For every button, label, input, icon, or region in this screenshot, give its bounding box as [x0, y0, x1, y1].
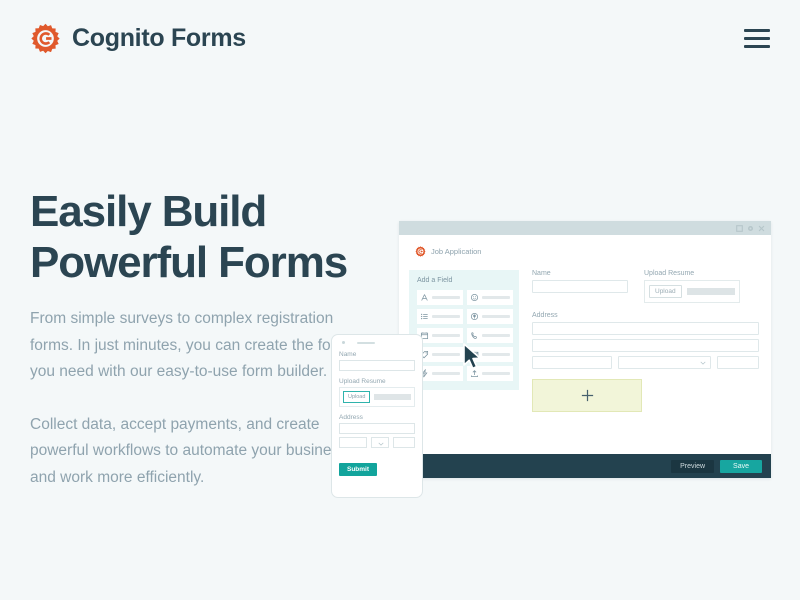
hero-paragraph-2: Collect data, accept payments, and creat… — [30, 412, 370, 492]
page-title: Easily Build Powerful Forms — [30, 186, 370, 288]
mobile-upload-group: Upload Resume Upload — [339, 378, 415, 407]
landing-page: Cognito Forms Easily Build Powerful Form… — [0, 0, 800, 600]
phone-camera-dot — [342, 341, 345, 344]
chip-placeholder — [482, 372, 510, 375]
field-type-choice[interactable] — [467, 290, 513, 305]
mobile-upload-label: Upload Resume — [339, 378, 415, 385]
address-city-state-zip-row — [532, 356, 759, 369]
mobile-name-input[interactable] — [339, 360, 415, 371]
chip-placeholder — [432, 334, 460, 337]
chip-placeholder — [482, 353, 510, 356]
chip-placeholder — [432, 372, 460, 375]
add-a-field-title: Add a Field — [417, 277, 513, 284]
chip-placeholder — [482, 296, 510, 299]
field-type-text[interactable] — [417, 290, 463, 305]
cognito-gear-icon — [30, 23, 61, 54]
mobile-state-select[interactable] — [371, 437, 389, 448]
gear-icon[interactable] — [747, 225, 754, 232]
form-row-top: Name Upload Resume Upload — [532, 270, 759, 303]
name-input[interactable] — [532, 280, 628, 293]
chip-placeholder — [482, 334, 510, 337]
zip-input[interactable] — [717, 356, 759, 369]
add-field-dropzone[interactable] — [532, 379, 642, 412]
mobile-city-state-zip-row — [339, 437, 415, 448]
minimize-icon[interactable] — [736, 225, 743, 232]
mobile-form-mockup: Name Upload Resume Upload Address — [331, 334, 423, 498]
upload-field-group: Upload Resume Upload — [644, 270, 740, 303]
headline-line-1: Easily Build — [30, 187, 266, 236]
mobile-zip-input[interactable] — [393, 437, 415, 448]
hamburger-menu-icon[interactable] — [744, 29, 770, 48]
mobile-city-input[interactable] — [339, 437, 367, 448]
plus-icon — [580, 388, 595, 403]
hero-copy: Easily Build Powerful Forms From simple … — [30, 186, 370, 491]
site-header: Cognito Forms — [0, 0, 800, 76]
mock-window-body: Job Application Add a Field — [399, 235, 771, 454]
list-field-icon — [420, 312, 429, 321]
mouse-pointer-icon — [462, 343, 484, 373]
address-line-1-input[interactable] — [532, 322, 759, 335]
address-field-group: Address — [532, 312, 759, 369]
upload-control: Upload — [644, 280, 740, 303]
mobile-name-label: Name — [339, 351, 415, 358]
close-icon[interactable] — [758, 225, 765, 232]
headline-line-2: Powerful Forms — [30, 238, 347, 287]
mobile-upload-filename-bar — [374, 394, 411, 400]
mock-columns: Add a Field — [409, 270, 761, 412]
mobile-name-group: Name — [339, 351, 415, 371]
mobile-address-line-input[interactable] — [339, 423, 415, 434]
mock-window-titlebar — [399, 221, 771, 235]
mock-form-title: Job Application — [415, 246, 761, 257]
hamburger-bar — [744, 29, 770, 32]
hamburger-bar — [744, 45, 770, 48]
upload-label: Upload Resume — [644, 270, 740, 277]
brand-name: Cognito Forms — [72, 24, 246, 53]
chip-placeholder — [432, 353, 460, 356]
phone-speaker — [357, 342, 375, 344]
mock-form-title-text: Job Application — [431, 247, 481, 256]
mock-footer-bar: Preview Save — [399, 454, 771, 478]
mobile-address-group: Address — [339, 414, 415, 448]
brand-logo[interactable]: Cognito Forms — [30, 23, 246, 54]
phone-earpiece — [339, 341, 415, 344]
field-type-location[interactable] — [467, 309, 513, 324]
upload-button[interactable]: Upload — [649, 285, 682, 298]
chip-placeholder — [482, 315, 510, 318]
chip-placeholder — [432, 315, 460, 318]
desktop-form-builder-mockup: Job Application Add a Field — [399, 221, 771, 478]
cognito-gear-icon — [415, 246, 426, 257]
field-type-date[interactable] — [417, 328, 463, 343]
field-type-price[interactable] — [417, 347, 463, 362]
address-line-2-input[interactable] — [532, 339, 759, 352]
state-select[interactable] — [618, 356, 711, 369]
field-type-calculation[interactable] — [417, 366, 463, 381]
phone-icon — [470, 331, 479, 340]
field-type-phone[interactable] — [467, 328, 513, 343]
mobile-upload-button[interactable]: Upload — [343, 391, 370, 403]
mobile-upload-control: Upload — [339, 387, 415, 407]
form-preview-area: Name Upload Resume Upload Address — [532, 270, 761, 412]
address-label: Address — [532, 312, 759, 319]
name-label: Name — [532, 270, 628, 277]
field-type-list[interactable] — [417, 309, 463, 324]
save-button[interactable]: Save — [720, 460, 762, 473]
name-field-group: Name — [532, 270, 628, 303]
upload-filename-bar — [687, 288, 735, 295]
preview-button[interactable]: Preview — [671, 460, 714, 473]
chip-placeholder — [432, 296, 460, 299]
mobile-address-label: Address — [339, 414, 415, 421]
chevron-down-icon — [700, 361, 706, 365]
hero-paragraph-1: From simple surveys to complex registrat… — [30, 306, 370, 386]
mobile-submit-button[interactable]: Submit — [339, 463, 377, 476]
choice-field-icon — [470, 293, 479, 302]
hamburger-bar — [744, 37, 770, 40]
location-pin-icon — [470, 312, 479, 321]
city-input[interactable] — [532, 356, 612, 369]
text-field-icon — [420, 293, 429, 302]
chevron-down-icon — [378, 442, 384, 446]
